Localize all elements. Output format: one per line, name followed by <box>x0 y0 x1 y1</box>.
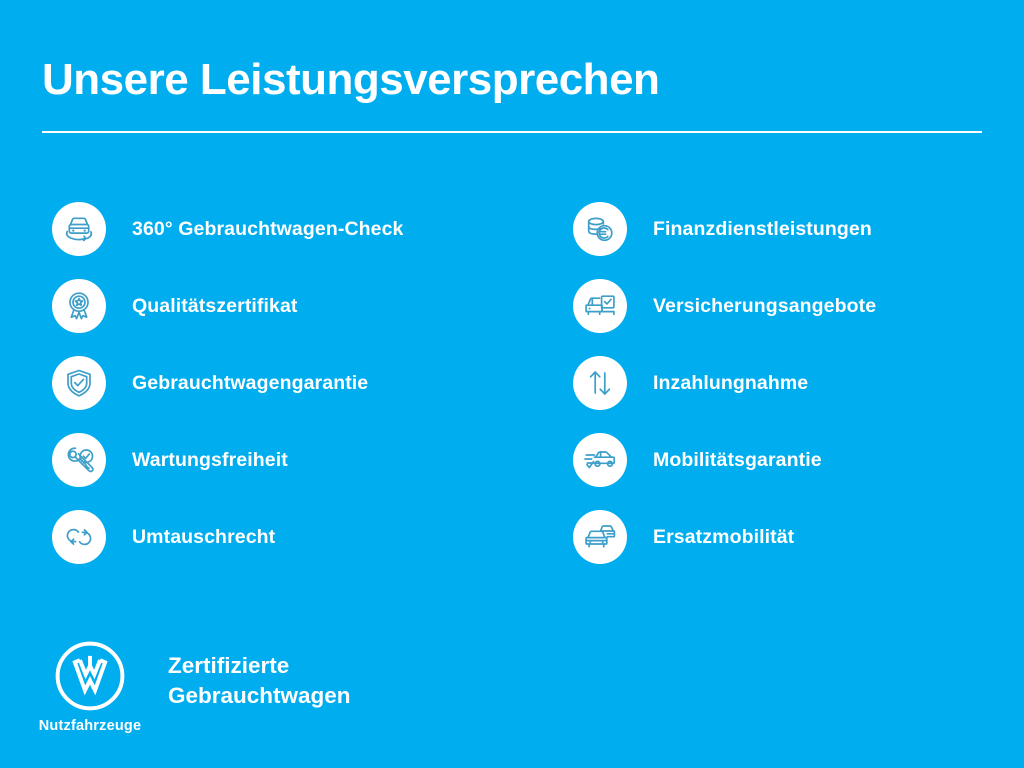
promise-item-umtauschrecht: Umtauschrecht <box>52 510 403 564</box>
promise-label: Inzahlungnahme <box>653 372 808 395</box>
promise-label: Versicherungsangebote <box>653 295 876 318</box>
page-title: Unsere Leistungsversprechen <box>42 52 659 108</box>
promise-label: Wartungsfreiheit <box>132 449 288 472</box>
promise-item-qualitaetszertifikat: Qualitätszertifikat <box>52 279 403 333</box>
brand-footer: Nutzfahrzeuge Zertifizierte Gebrauchtwag… <box>38 640 351 734</box>
promise-label: Gebrauchtwagengarantie <box>132 372 368 395</box>
promise-item-inzahlungnahme: Inzahlungnahme <box>573 356 876 410</box>
brand-mark: Nutzfahrzeuge <box>38 640 142 734</box>
service-promise-page: Unsere Leistungsversprechen 360° Gebrauc… <box>0 0 1024 768</box>
promise-item-mobilitaetsgarantie: Mobilitätsgarantie <box>573 433 876 487</box>
brand-tagline: Zertifizierte Gebrauchtwagen <box>168 651 351 711</box>
shield-check-icon <box>52 356 106 410</box>
exchange-arrows-icon <box>52 510 106 564</box>
wrench-check-icon <box>52 433 106 487</box>
car-motion-check-icon <box>573 433 627 487</box>
promise-item-ersatzmobilitaet: Ersatzmobilität <box>573 510 876 564</box>
promise-label: Ersatzmobilität <box>653 526 794 549</box>
promise-label: Qualitätszertifikat <box>132 295 298 318</box>
promise-label: Mobilitätsgarantie <box>653 449 822 472</box>
promise-item-finanzdienstleistungen: Finanzdienstleistungen <box>573 202 876 256</box>
promise-label: Finanzdienstleistungen <box>653 218 872 241</box>
promise-label: 360° Gebrauchtwagen-Check <box>132 218 403 241</box>
up-down-arrows-icon <box>573 356 627 410</box>
two-cars-icon <box>573 510 627 564</box>
coins-euro-icon <box>573 202 627 256</box>
award-rosette-icon <box>52 279 106 333</box>
promise-item-wartungsfreiheit: Wartungsfreiheit <box>52 433 403 487</box>
brand-logo-subtitle: Nutzfahrzeuge <box>39 718 142 734</box>
vw-logo <box>54 640 126 712</box>
promises-right-column: Finanzdienstleistungen Versicherungsange… <box>573 202 876 587</box>
brand-tagline-line2: Gebrauchtwagen <box>168 681 351 711</box>
promises-left-column: 360° Gebrauchtwagen-Check Qualitätszerti… <box>52 202 403 587</box>
brand-tagline-line1: Zertifizierte <box>168 651 351 681</box>
promise-item-versicherungsangebote: Versicherungsangebote <box>573 279 876 333</box>
promise-item-360-check: 360° Gebrauchtwagen-Check <box>52 202 403 256</box>
promise-item-gebrauchtwagengarantie: Gebrauchtwagengarantie <box>52 356 403 410</box>
promise-label: Umtauschrecht <box>132 526 275 549</box>
car-360-check-icon <box>52 202 106 256</box>
title-divider <box>42 131 982 133</box>
car-document-check-icon <box>573 279 627 333</box>
